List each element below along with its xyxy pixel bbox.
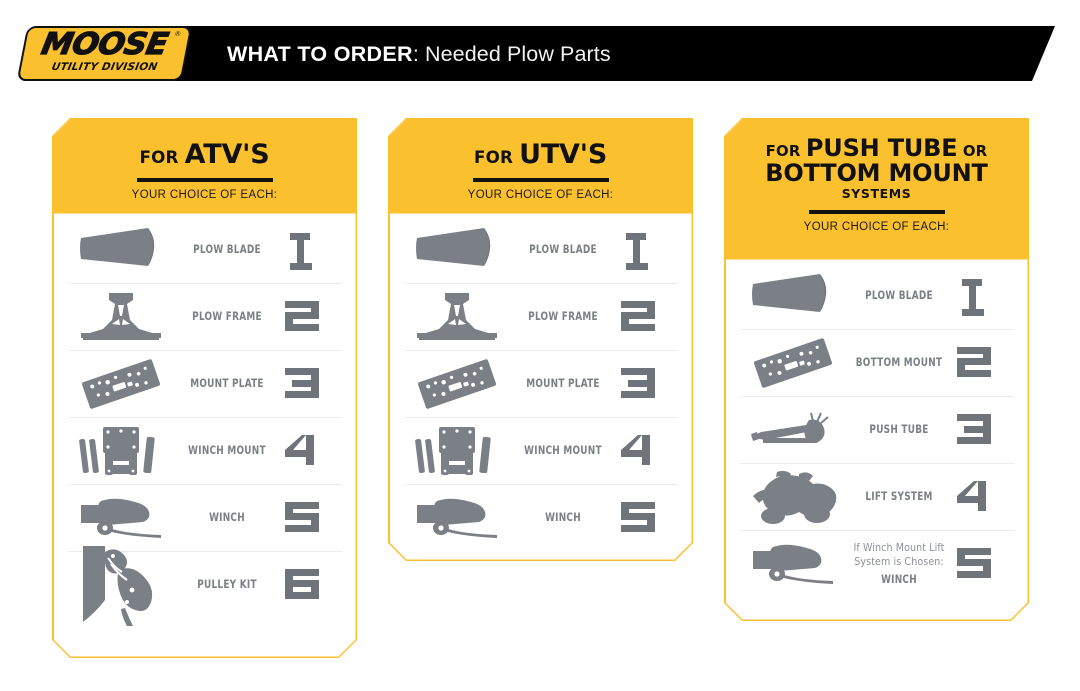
part-number	[616, 496, 678, 540]
mount-plate-icon	[404, 356, 510, 412]
part-label: MOUNT PLATE	[517, 376, 608, 390]
card-body: FOR UTV'SYOUR CHOICE OF EACH:PLOW BLADEP…	[390, 120, 692, 560]
part-number	[616, 429, 678, 473]
card-body: FOR ATV'SYOUR CHOICE OF EACH:PLOW BLADEP…	[54, 120, 356, 657]
part-label: WINCH MOUNT	[517, 443, 608, 457]
card-header-utv: FOR UTV'SYOUR CHOICE OF EACH:	[390, 120, 692, 214]
choice-label: YOUR CHOICE OF EACH:	[726, 221, 1028, 233]
table-row[interactable]: MOUNT PLATE	[404, 350, 678, 417]
logo-subtitle: UTILITY DIVISION	[21, 61, 188, 73]
card-title-systems: SYSTEMS	[726, 187, 1028, 200]
part-label: PULLEY KIT	[181, 577, 272, 591]
part-label: WINCH	[517, 510, 608, 524]
push-tube-icon	[740, 410, 846, 450]
table-row[interactable]: WINCH MOUNT	[68, 417, 342, 484]
part-label: PLOW BLADE	[517, 242, 608, 256]
table-row[interactable]: WINCH	[404, 484, 678, 551]
choice-label: YOUR CHOICE OF EACH:	[54, 189, 356, 201]
page-title-light: : Needed Plow Parts	[413, 42, 611, 66]
card-title-main: ATV'S	[185, 139, 270, 170]
card-title-suffix: OR	[957, 142, 987, 160]
part-label: If Winch Mount Lift System is Chosen:WIN…	[853, 541, 944, 586]
winch-icon	[404, 495, 510, 541]
part-label: LIFT SYSTEM	[853, 489, 944, 503]
card-utv: FOR UTV'SYOUR CHOICE OF EACH:PLOW BLADEP…	[388, 118, 693, 561]
part-number	[280, 429, 342, 473]
part-label: MOUNT PLATE	[181, 376, 272, 390]
moose-logo: MOOSE UTILITY DIVISION ®	[22, 26, 187, 81]
part-label: WINCH	[181, 510, 272, 524]
plow-frame-icon	[404, 291, 510, 343]
table-row[interactable]: PLOW FRAME	[404, 283, 678, 350]
plow-blade-icon	[740, 272, 846, 318]
registered-mark-icon: ®	[174, 31, 181, 38]
table-row[interactable]: LIFT SYSTEM	[740, 463, 1014, 530]
table-row[interactable]: PUSH TUBE	[740, 396, 1014, 463]
winch-icon	[68, 495, 174, 541]
part-number	[280, 362, 342, 406]
page-title-strong: WHAT TO ORDER	[227, 42, 413, 66]
table-row[interactable]: If Winch Mount Lift System is Chosen:WIN…	[740, 530, 1014, 597]
part-number	[616, 295, 678, 339]
table-row[interactable]: WINCH MOUNT	[404, 417, 678, 484]
title-divider	[809, 210, 945, 214]
card-title-line2: BOTTOM MOUNT	[765, 159, 987, 187]
card-title-prefix: FOR	[474, 147, 519, 167]
part-number	[952, 273, 1014, 317]
mount-plate-icon	[68, 356, 174, 412]
part-number	[952, 475, 1014, 519]
choice-label: YOUR CHOICE OF EACH:	[390, 189, 692, 201]
table-row[interactable]: PULLEY KIT	[68, 551, 342, 618]
part-number	[280, 496, 342, 540]
page-header: WHAT TO ORDER: Needed Plow Parts MOOSE U…	[0, 0, 1080, 100]
card-title: FOR PUSH TUBE ORBOTTOM MOUNTSYSTEMS	[726, 136, 1028, 201]
card-header-pushtube: FOR PUSH TUBE ORBOTTOM MOUNTSYSTEMSYOUR …	[726, 120, 1028, 260]
atv-icon	[740, 468, 846, 526]
logo-wordmark: MOOSE	[16, 30, 193, 60]
mount-plate-icon	[740, 335, 846, 391]
part-note: If Winch Mount Lift System is Chosen:	[847, 541, 949, 569]
part-label: WINCH MOUNT	[181, 443, 272, 457]
table-row[interactable]: MOUNT PLATE	[68, 350, 342, 417]
table-row[interactable]: PLOW BLADE	[68, 216, 342, 283]
winch-mount-icon	[68, 423, 174, 479]
part-number	[952, 408, 1014, 452]
table-row[interactable]: PLOW BLADE	[740, 262, 1014, 329]
part-label: PLOW BLADE	[181, 242, 272, 256]
part-label: PUSH TUBE	[853, 422, 944, 436]
part-name: WINCH	[853, 572, 944, 586]
part-number	[952, 542, 1014, 586]
pulley-kit-icon	[68, 542, 174, 628]
part-number	[616, 227, 678, 271]
card-pushtube: FOR PUSH TUBE ORBOTTOM MOUNTSYSTEMSYOUR …	[724, 118, 1029, 621]
parts-list: PLOW BLADEPLOW FRAMEMOUNT PLATEWINCH MOU…	[390, 216, 692, 551]
plow-blade-icon	[68, 226, 174, 272]
card-title-main: PUSH TUBE	[806, 134, 958, 162]
part-number	[280, 227, 342, 271]
card-body: FOR PUSH TUBE ORBOTTOM MOUNTSYSTEMSYOUR …	[726, 120, 1028, 620]
page-title: WHAT TO ORDER: Needed Plow Parts	[227, 38, 611, 70]
card-title: FOR UTV'S	[390, 141, 692, 170]
table-row[interactable]: BOTTOM MOUNT	[740, 329, 1014, 396]
card-title-prefix: FOR	[140, 147, 185, 167]
title-divider	[473, 178, 609, 182]
part-number	[280, 563, 342, 607]
part-number	[952, 341, 1014, 385]
card-title-main: UTV'S	[519, 139, 607, 170]
parts-list: PLOW BLADEBOTTOM MOUNTPUSH TUBELIFT SYST…	[726, 262, 1028, 597]
part-number	[280, 295, 342, 339]
parts-list: PLOW BLADEPLOW FRAMEMOUNT PLATEWINCH MOU…	[54, 216, 356, 618]
title-divider	[137, 178, 273, 182]
part-label: BOTTOM MOUNT	[853, 355, 944, 369]
table-row[interactable]: WINCH	[68, 484, 342, 551]
card-title: FOR ATV'S	[54, 141, 356, 170]
part-label: PLOW FRAME	[517, 309, 608, 323]
part-label: PLOW FRAME	[181, 309, 272, 323]
part-number	[616, 362, 678, 406]
winch-mount-icon	[404, 423, 510, 479]
card-atv: FOR ATV'SYOUR CHOICE OF EACH:PLOW BLADEP…	[52, 118, 357, 658]
table-row[interactable]: PLOW FRAME	[68, 283, 342, 350]
table-row[interactable]: PLOW BLADE	[404, 216, 678, 283]
part-label: PLOW BLADE	[853, 288, 944, 302]
winch-icon	[740, 541, 846, 587]
plow-frame-icon	[68, 291, 174, 343]
plow-blade-icon	[404, 226, 510, 272]
card-header-atv: FOR ATV'SYOUR CHOICE OF EACH:	[54, 120, 356, 214]
card-title-prefix: FOR	[766, 142, 806, 160]
